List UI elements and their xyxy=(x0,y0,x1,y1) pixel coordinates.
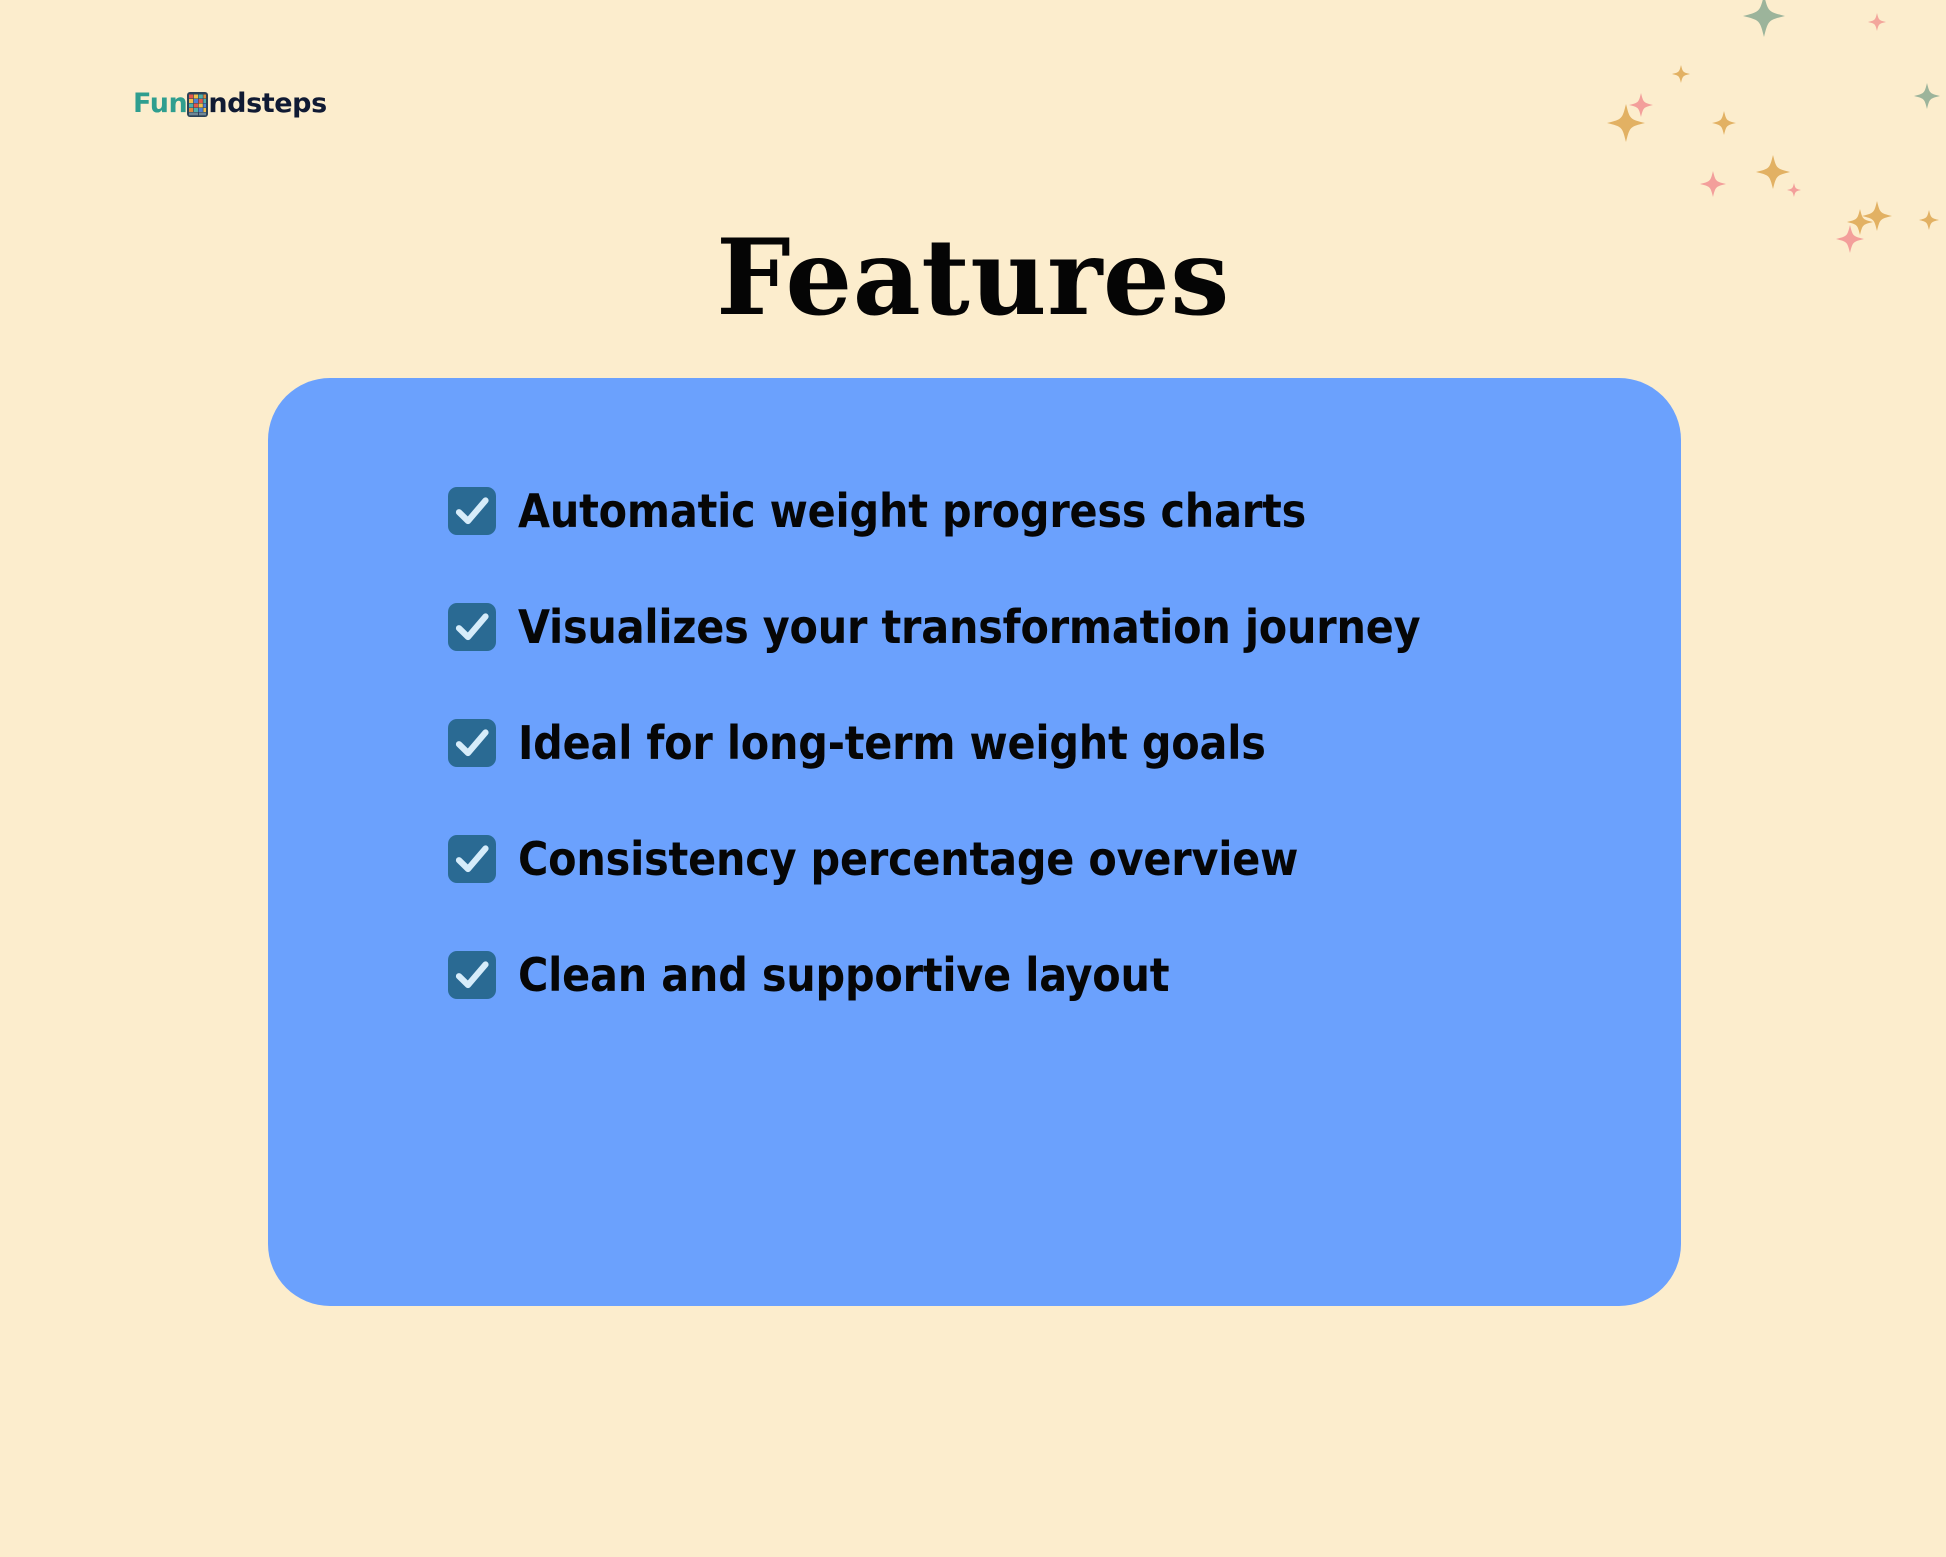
sparkle-icon xyxy=(1672,65,1690,83)
check-mark-button-icon xyxy=(448,951,496,999)
feature-item: Ideal for long-term weight goals xyxy=(448,715,1641,771)
sparkle-icon xyxy=(1743,0,1785,37)
sparkle-icon xyxy=(1607,104,1645,142)
sparkle-icon xyxy=(1700,171,1726,197)
feature-item-label: Automatic weight progress charts xyxy=(518,488,1306,534)
sparkle-icon xyxy=(1868,13,1886,31)
sparkle-icon xyxy=(1629,93,1653,117)
feature-item: Automatic weight progress charts xyxy=(448,483,1641,539)
sparkle-icon xyxy=(1787,183,1801,197)
feature-item-label: Clean and supportive layout xyxy=(518,952,1169,998)
sparkle-icon xyxy=(1914,83,1940,109)
feature-item-label: Consistency percentage overview xyxy=(518,836,1298,882)
brand-logo: Fun ndsteps xyxy=(133,86,327,120)
features-list: Automatic weight progress chartsVisualiz… xyxy=(448,483,1641,1003)
feature-item-label: Ideal for long-term weight goals xyxy=(518,720,1266,766)
feature-item: Consistency percentage overview xyxy=(448,831,1641,887)
page-title: Features xyxy=(0,222,1946,332)
sparkle-icon xyxy=(1712,111,1736,135)
check-mark-button-icon xyxy=(448,835,496,883)
check-mark-button-icon xyxy=(448,603,496,651)
sparkle-icon xyxy=(1756,155,1790,189)
brand-name-prefix: Fun xyxy=(133,90,187,117)
feature-item: Visualizes your transformation journey xyxy=(448,599,1641,655)
brand-name-suffix: ndsteps xyxy=(208,90,326,117)
features-card: Automatic weight progress chartsVisualiz… xyxy=(268,378,1681,1306)
feature-item-label: Visualizes your transformation journey xyxy=(518,604,1420,650)
feature-item: Clean and supportive layout xyxy=(448,947,1641,1003)
check-mark-button-icon xyxy=(448,487,496,535)
app-grid-icon xyxy=(187,92,208,117)
check-mark-button-icon xyxy=(448,719,496,767)
